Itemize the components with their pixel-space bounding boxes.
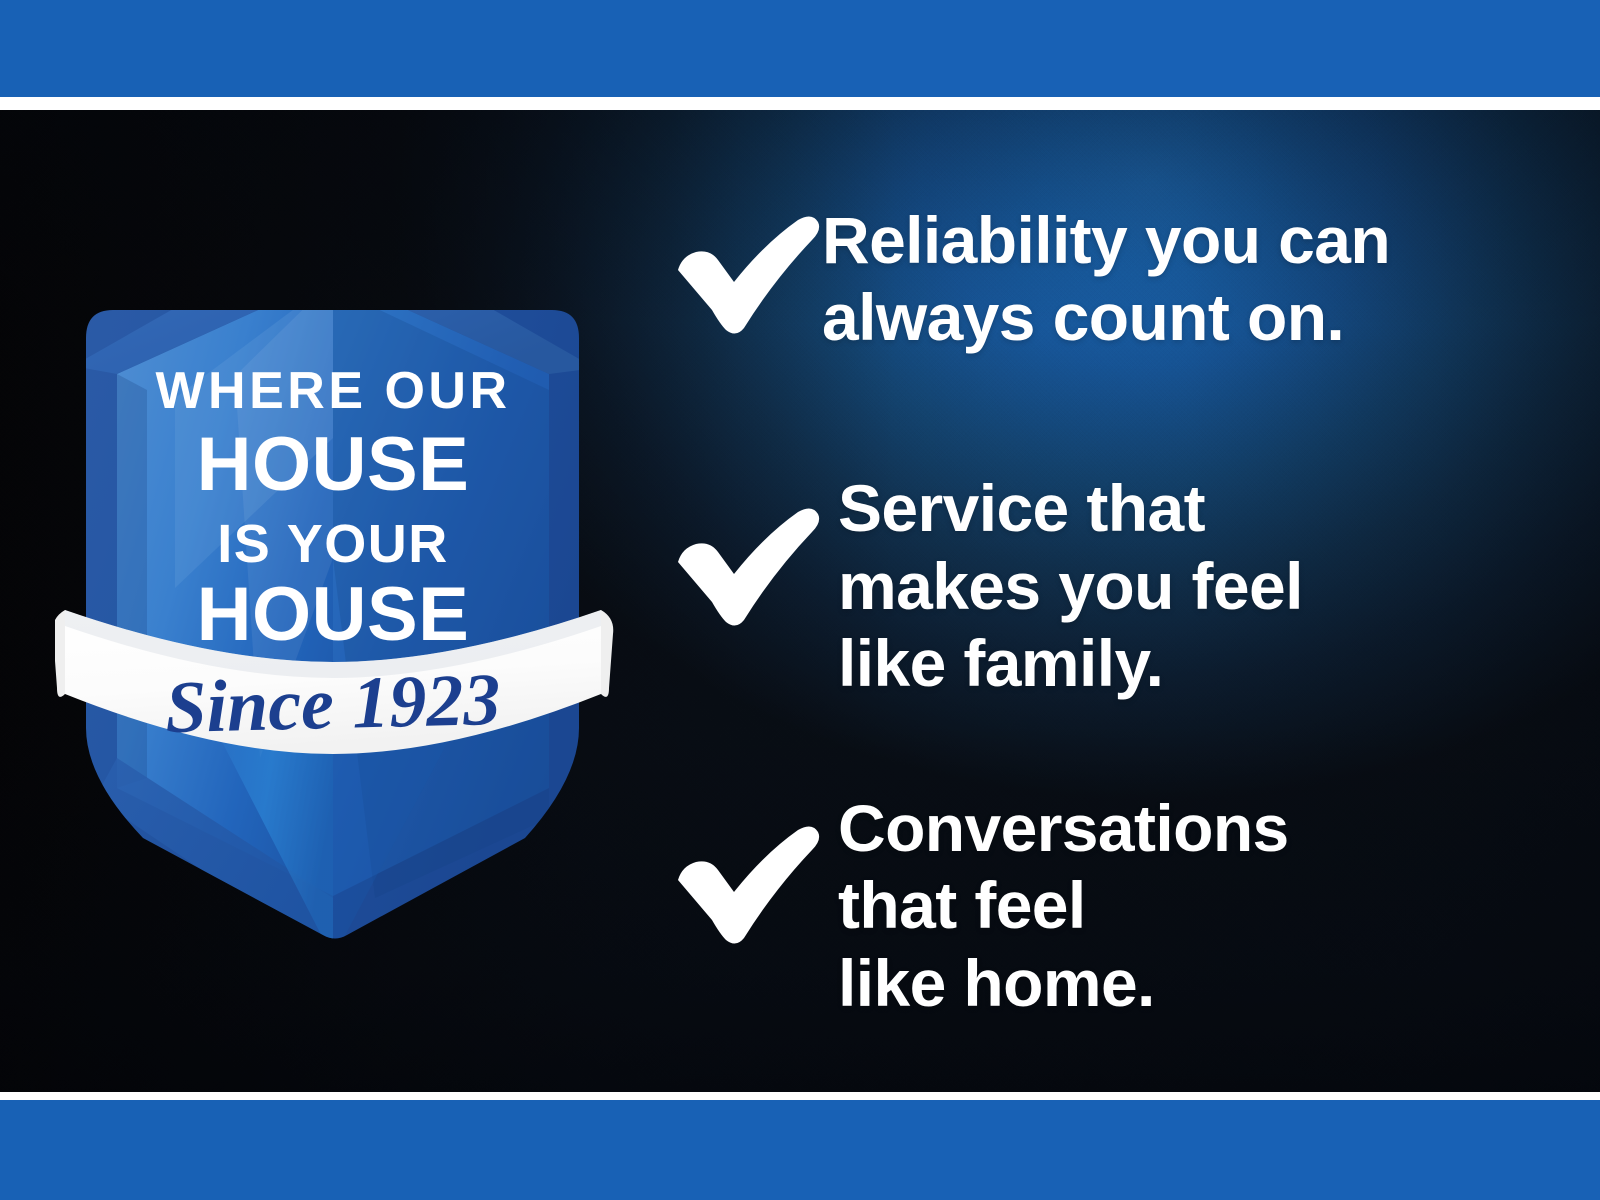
check-icon [672,508,822,626]
benefit-text: Reliability you can always count on. [822,200,1552,356]
top-brand-bar [0,0,1600,97]
check-icon [672,826,822,944]
emblem-line-1: WHERE OUR [155,362,510,420]
bottom-brand-bar [0,1100,1600,1200]
benefit-text: Conversations that feel like home. [822,788,1552,1022]
promo-poster: WHERE OUR HOUSE IS YOUR HOUSE Since 1923 [0,0,1600,1200]
benefit-item: Service that makes you feel like family. [672,468,1552,702]
shield-emblem: WHERE OUR HOUSE IS YOUR HOUSE Since 1923 [55,258,635,958]
emblem-line-4: HOUSE [197,572,470,657]
emblem-line-3: IS YOUR [217,514,449,574]
benefit-item: Reliability you can always count on. [672,200,1552,356]
benefit-text: Service that makes you feel like family. [822,468,1552,702]
benefit-item: Conversations that feel like home. [672,788,1552,1022]
check-icon [672,216,822,334]
benefits-list: Reliability you can always count on. Ser… [672,200,1552,1022]
ribbon-text: Since 1923 [164,659,501,749]
emblem-line-2: HOUSE [197,422,470,507]
